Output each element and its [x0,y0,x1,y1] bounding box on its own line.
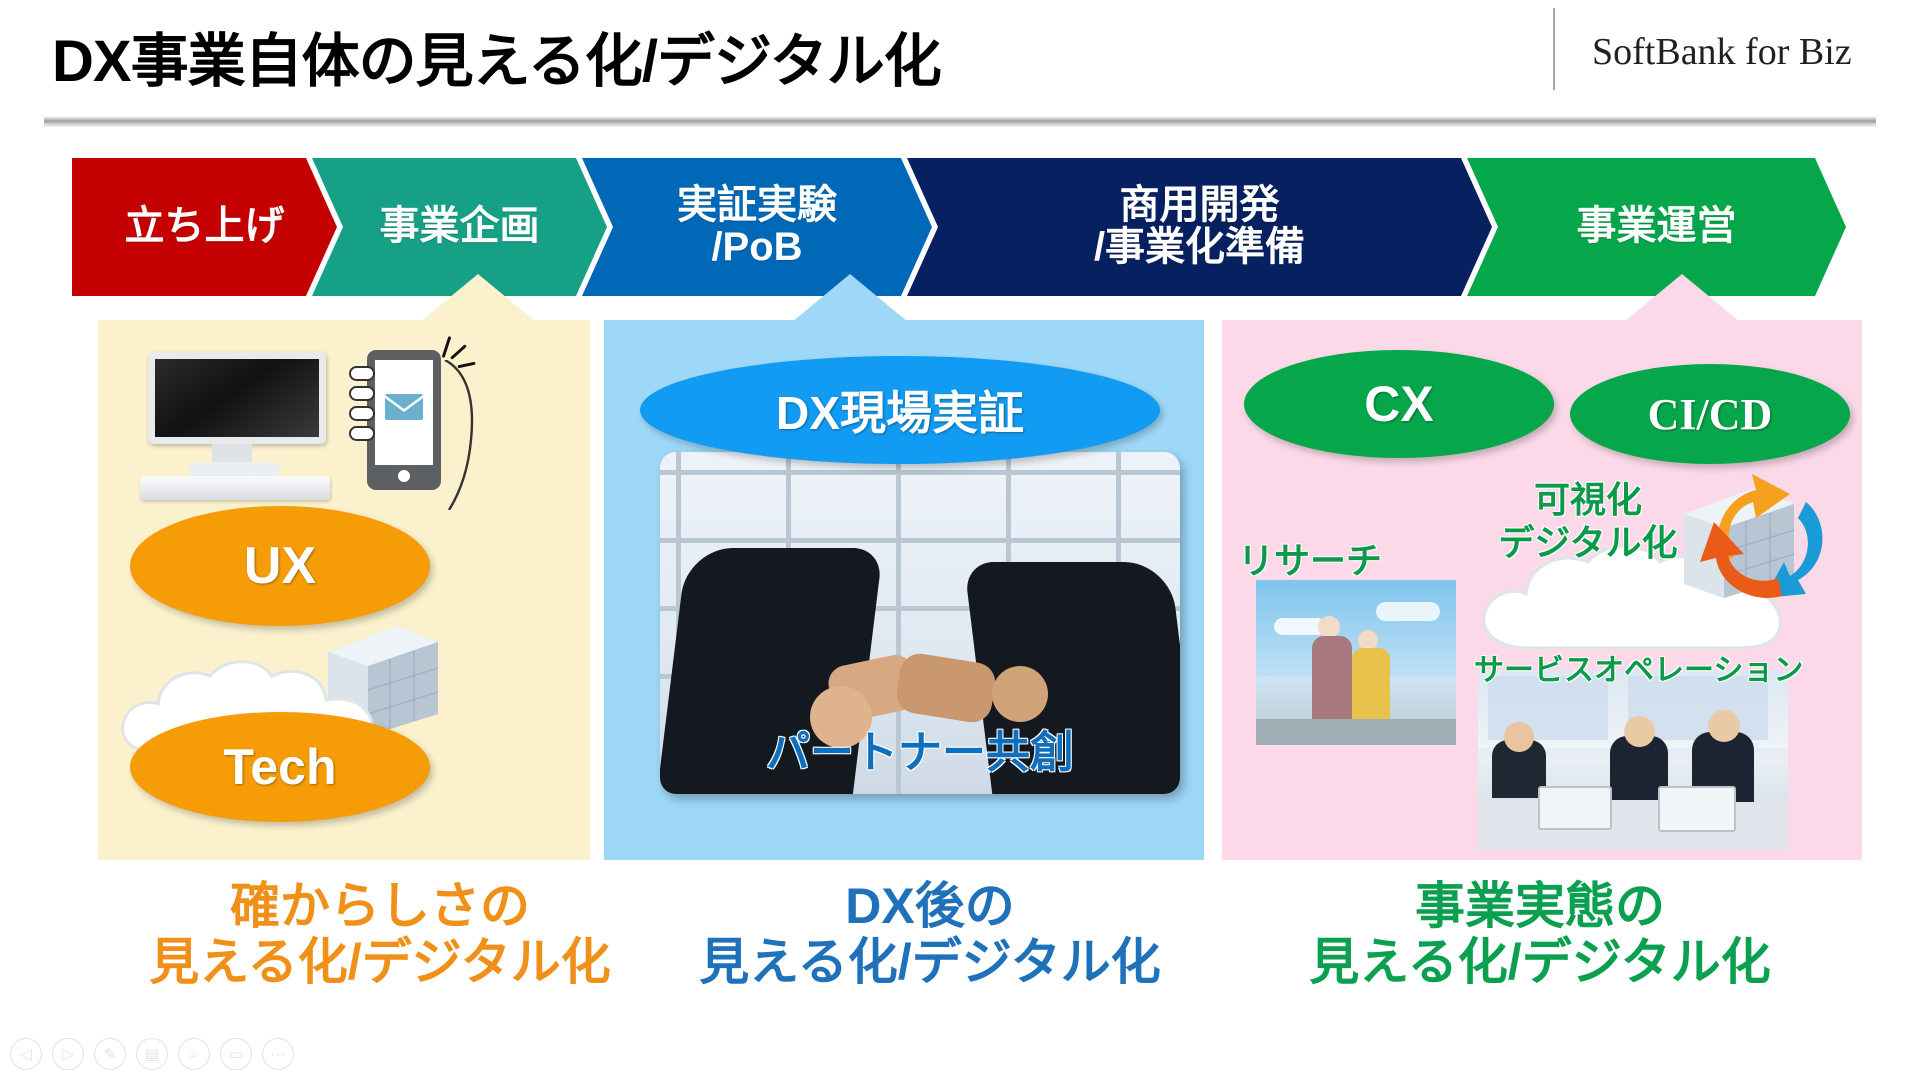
header-divider [1553,8,1555,90]
process-step-startup[interactable]: 立ち上げ [72,158,337,296]
label-visualization: 可視化 デジタル化 [1478,478,1698,564]
process-chevron-bar: 立ち上げ 事業企画 実証実験 /PoB 商用開発 /事業化準備 事業運営 [72,158,1846,296]
pen-tool-button[interactable]: ✎ [94,1038,126,1070]
badge-ux[interactable]: UX [130,506,430,626]
presentation-slide: DX事業自体の見える化/デジタル化 SoftBank for Biz 立ち上げ … [0,0,1920,1080]
label-visualization-line2: デジタル化 [1498,522,1677,563]
photo-caption-partner: パートナー共創 [660,716,1180,780]
caption-middle: DX後の 見える化/デジタル化 [600,878,1260,990]
panel-connector-notch [420,274,536,322]
label-visualization-line1: 可視化 [1534,479,1642,520]
page-title: DX事業自体の見える化/デジタル化 [52,14,941,98]
badge-label: CX [1364,375,1433,433]
process-step-label: 商用開発 /事業化準備 [1094,185,1305,268]
label-service-operation: サービスオペレーション [1474,645,1803,689]
caption-line2: 見える化/デジタル化 [600,934,1260,990]
recycle-arrows-icon [1690,468,1840,606]
label-research: リサーチ [1238,532,1382,584]
process-step-label: 事業企画 [380,206,540,248]
caption-right: 事業実態の 見える化/デジタル化 [1190,878,1890,990]
caption-line2: 見える化/デジタル化 [1190,934,1890,990]
badge-cx[interactable]: CX [1244,350,1554,458]
badge-tech[interactable]: Tech [130,712,430,822]
process-step-label: 立ち上げ [125,206,285,248]
badge-label: UX [244,536,316,596]
process-step-label: 事業運営 [1577,206,1737,248]
badge-label: Tech [224,738,337,796]
panel-connector-notch [792,274,908,322]
next-slide-button[interactable]: ▷ [52,1038,84,1070]
header-rule [44,116,1876,127]
handshake-photo: パートナー共創 [660,452,1180,794]
women-travel-photo [1256,580,1456,745]
panel-connector-notch [1624,274,1740,322]
process-step-line1: 実証実験 [677,183,837,227]
badge-label: CI/CD [1648,389,1773,440]
slideshow-toolbar: ◁ ▷ ✎ ▤ ⌕ ▭ ⋯ [10,1038,294,1070]
process-step-label: 実証実験 /PoB [677,185,837,268]
badge-cicd[interactable]: CI/CD [1570,364,1850,464]
process-step-commercial-development[interactable]: 商用開発 /事業化準備 [907,158,1492,296]
process-step-line1: 商用開発 [1120,183,1280,227]
desktop-monitor-icon [140,352,326,482]
previous-slide-button[interactable]: ◁ [10,1038,42,1070]
badge-dx-field-verification[interactable]: DX現場実証 [640,356,1160,464]
badge-label: DX現場実証 [776,377,1024,443]
slide-header: DX事業自体の見える化/デジタル化 SoftBank for Biz [0,0,1920,118]
keyboard-icon [140,476,330,500]
brand-logo: SoftBank for Biz [1592,30,1852,74]
more-options-button[interactable]: ⋯ [262,1038,294,1070]
caption-line1: DX後の [600,878,1260,934]
email-envelope-icon [385,394,423,420]
caption-line1: 事業実態の [1190,878,1890,934]
caption-button[interactable]: ▭ [220,1038,252,1070]
hand-phone-email-icon [345,336,475,516]
office-team-photo [1478,670,1788,850]
process-step-line2: /PoB [711,225,802,269]
slide-overview-button[interactable]: ▤ [136,1038,168,1070]
zoom-button[interactable]: ⌕ [178,1038,210,1070]
process-step-line2: /事業化準備 [1094,225,1305,269]
